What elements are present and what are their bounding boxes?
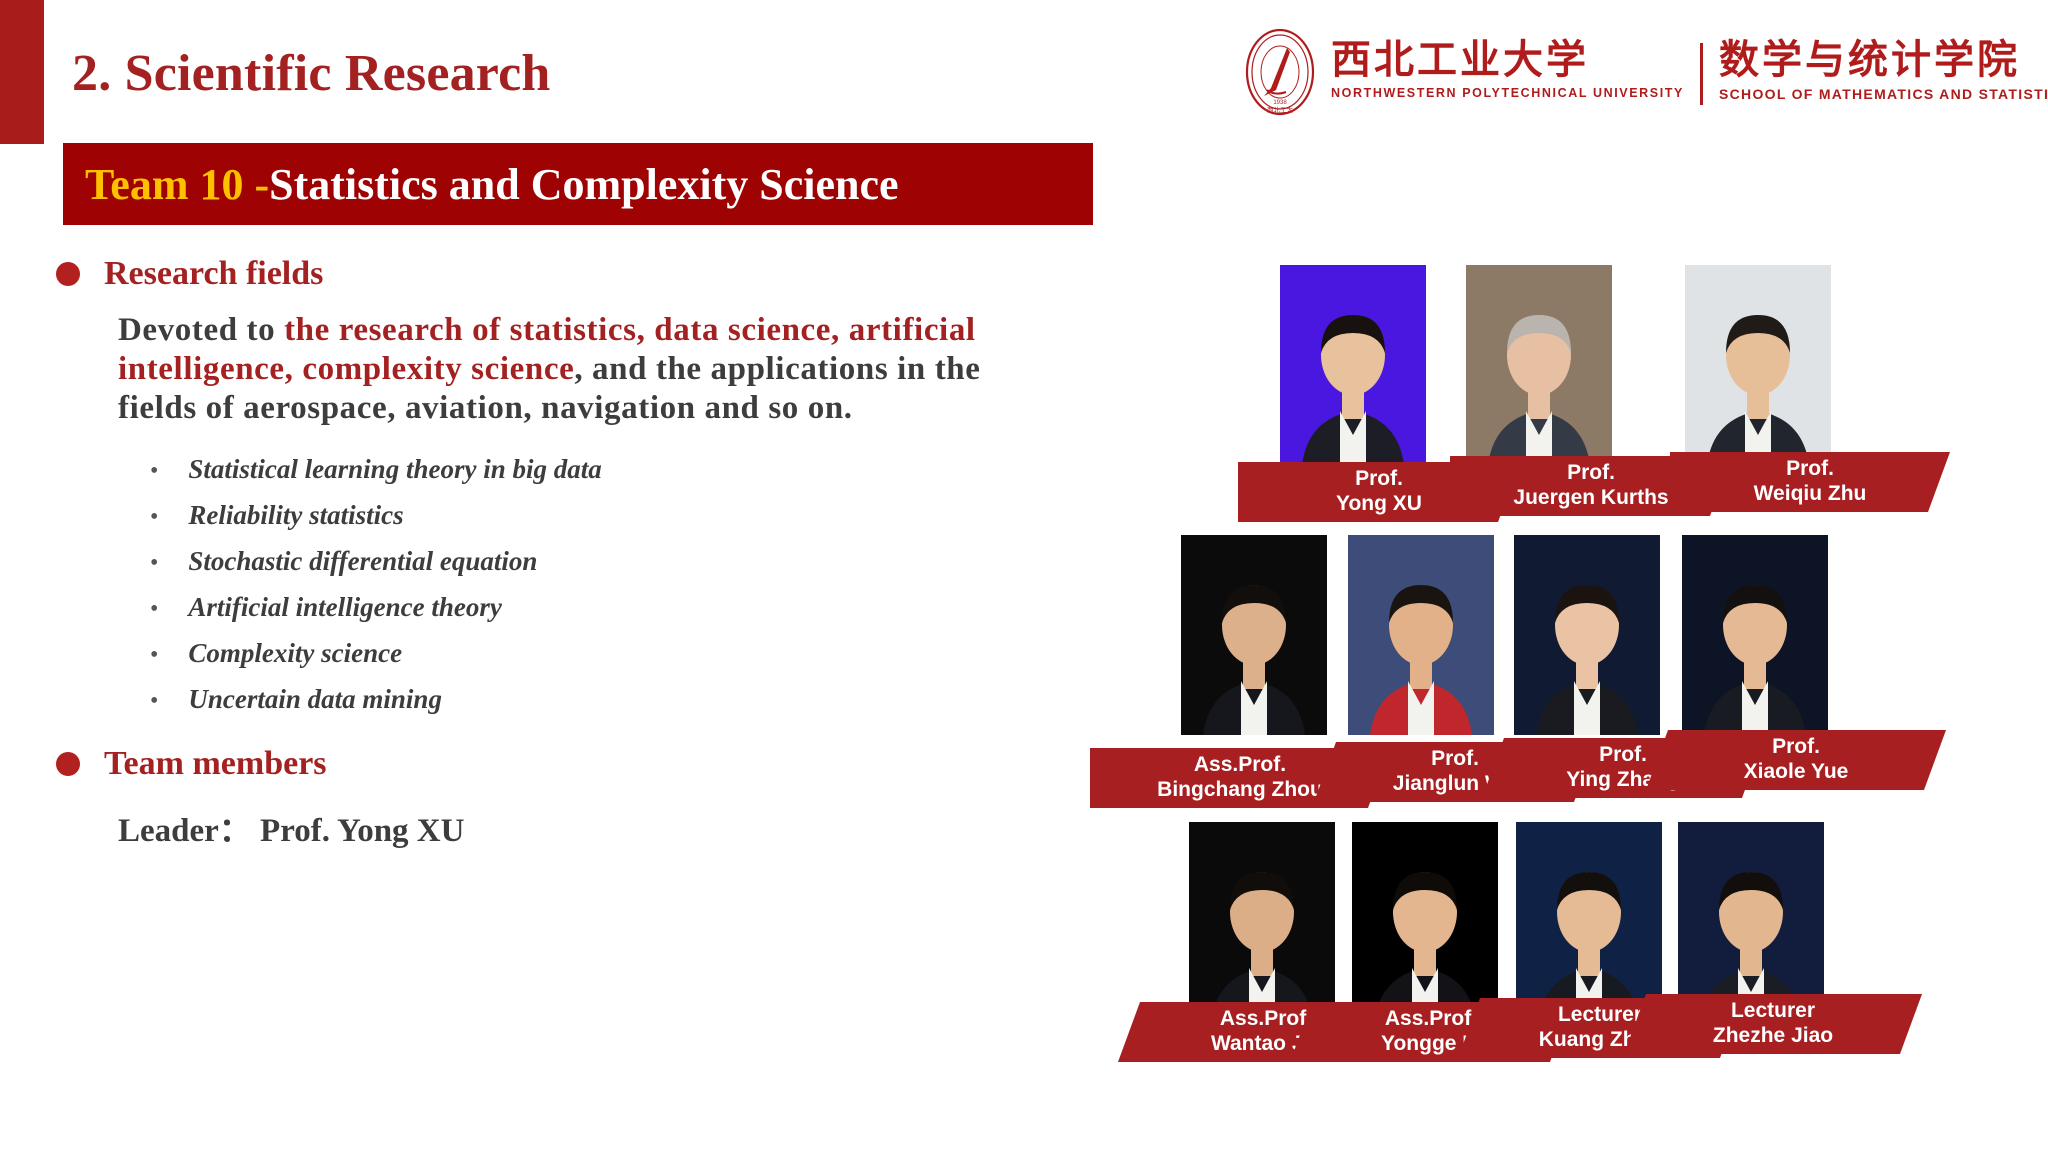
list-item: • Stochastic differential equation bbox=[150, 546, 1130, 577]
list-bullet-icon: • bbox=[150, 459, 158, 483]
list-item: • Artificial intelligence theory bbox=[150, 592, 1130, 623]
description-segment-1: Devoted to bbox=[118, 312, 284, 348]
team-members-heading: Team members bbox=[56, 745, 1130, 783]
list-bullet-icon: • bbox=[150, 643, 158, 667]
research-fields-heading: Research fields bbox=[56, 255, 1130, 293]
member-name-label: Bingchang Zhou bbox=[1157, 778, 1323, 803]
member-name-label: Weiqiu Zhu bbox=[1754, 482, 1867, 507]
member-rank-label: Ass.Prof. bbox=[1194, 753, 1286, 778]
member-photo bbox=[1678, 822, 1824, 1022]
member-name-label: Yong XU bbox=[1336, 492, 1422, 517]
member-name-label: Xiaole Yue bbox=[1744, 760, 1849, 785]
list-item-label: Stochastic differential equation bbox=[188, 546, 537, 577]
bullet-dot-icon bbox=[56, 752, 80, 776]
member-photo bbox=[1181, 535, 1327, 735]
member-rank-label: Prof. bbox=[1772, 735, 1820, 760]
member-photo bbox=[1352, 822, 1498, 1022]
content-area: Research fields Devoted to the research … bbox=[0, 255, 1130, 851]
member-photo bbox=[1280, 265, 1426, 465]
member-name-plate: Prof.Weiqiu Zhu bbox=[1670, 452, 1950, 512]
member-rank-label: Ass.Prof. bbox=[1385, 1007, 1477, 1032]
member-name-label: Juergen Kurths bbox=[1513, 486, 1668, 511]
bullet-dot-icon bbox=[56, 262, 80, 286]
list-item: • Uncertain data mining bbox=[150, 684, 1130, 715]
header-accent-strip bbox=[0, 0, 44, 144]
list-item-label: Uncertain data mining bbox=[188, 684, 442, 715]
member-rank-label: Prof. bbox=[1355, 467, 1403, 492]
member-name-plate: LecturerZhezhe Jiao bbox=[1624, 994, 1922, 1054]
member-photo bbox=[1514, 535, 1660, 735]
team-banner: Team 10 - Statistics and Complexity Scie… bbox=[63, 143, 1093, 225]
member-photo bbox=[1189, 822, 1335, 1022]
team-title-label: Statistics and Complexity Science bbox=[269, 159, 898, 210]
list-item-label: Artificial intelligence theory bbox=[188, 592, 501, 623]
member-rank-label: Lecturer bbox=[1731, 999, 1815, 1024]
member-rank-label: Prof. bbox=[1431, 747, 1479, 772]
page-title: 2. Scientific Research bbox=[72, 44, 551, 103]
list-bullet-icon: • bbox=[150, 505, 158, 529]
member-photo bbox=[1516, 822, 1662, 1022]
list-bullet-icon: • bbox=[150, 597, 158, 621]
team-leader-line: Leader： Prof. Yong XU bbox=[118, 803, 1130, 851]
list-bullet-icon: • bbox=[150, 551, 158, 575]
list-bullet-icon: • bbox=[150, 689, 158, 713]
member-photo bbox=[1348, 535, 1494, 735]
member-rank-label: Ass.Prof. bbox=[1220, 1007, 1312, 1032]
member-photo bbox=[1466, 265, 1612, 465]
member-name-label: Zhezhe Jiao bbox=[1713, 1024, 1833, 1049]
member-name-plate: Prof.Xiaole Yue bbox=[1646, 730, 1946, 790]
list-item-label: Statistical learning theory in big data bbox=[188, 454, 601, 485]
member-photo bbox=[1682, 535, 1828, 735]
team-members-label: Team members bbox=[104, 745, 327, 783]
research-fields-label: Research fields bbox=[104, 255, 323, 293]
research-description: Devoted to the research of statistics, d… bbox=[118, 311, 1038, 428]
list-item: • Reliability statistics bbox=[150, 500, 1130, 531]
team-number-label: Team 10 - bbox=[85, 159, 269, 210]
member-rank-label: Lecturer bbox=[1558, 1003, 1642, 1028]
team-members-section: Team members Leader： Prof. Yong XU bbox=[0, 745, 1130, 851]
member-rank-label: Prof. bbox=[1599, 743, 1647, 768]
list-item: • Complexity science bbox=[150, 638, 1130, 669]
list-item: • Statistical learning theory in big dat… bbox=[150, 454, 1130, 485]
research-topic-list: • Statistical learning theory in big dat… bbox=[150, 454, 1130, 715]
member-rank-label: Prof. bbox=[1786, 457, 1834, 482]
team-photo-grid: Prof.Yong XUProf.Juergen KurthsProf.Weiq… bbox=[1100, 0, 2048, 1152]
member-rank-label: Prof. bbox=[1567, 461, 1615, 486]
list-item-label: Complexity science bbox=[188, 638, 402, 669]
list-item-label: Reliability statistics bbox=[188, 500, 403, 531]
member-photo bbox=[1685, 265, 1831, 465]
